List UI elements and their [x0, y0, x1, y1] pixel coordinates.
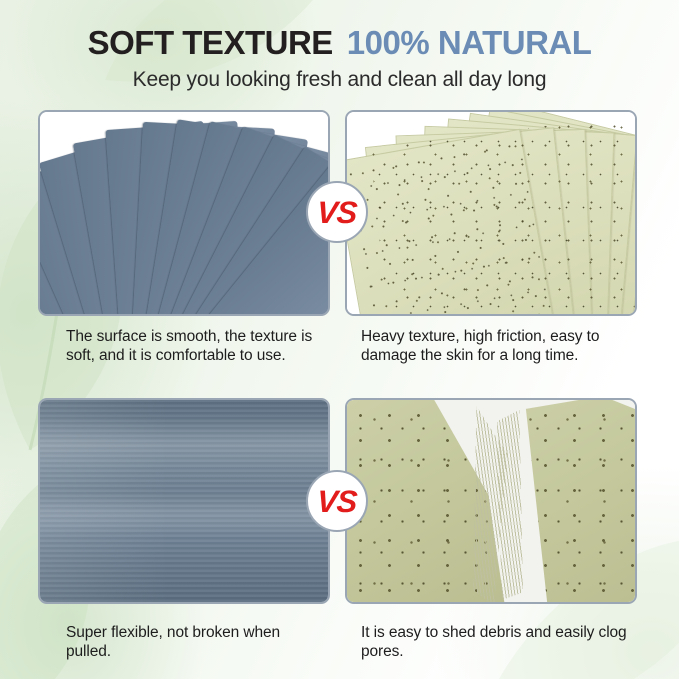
vs-badge-row1: VS [306, 181, 368, 243]
vs-label: VS [316, 197, 358, 228]
fan-of-smooth-blue-sheets-image [40, 112, 328, 314]
panel-bad-row2 [345, 398, 637, 604]
title-row: SOFT TEXTURE100% NATURAL [0, 26, 679, 59]
stack-of-speckled-green-sheets-image [347, 112, 635, 314]
page-subtitle: Keep you looking fresh and clean all day… [0, 68, 679, 92]
vs-badge-row2: VS [306, 470, 368, 532]
caption-good-row1: The surface is smooth, the texture is so… [66, 327, 328, 365]
header: SOFT TEXTURE100% NATURAL Keep you lookin… [0, 0, 679, 92]
panel-bad-row1 [345, 110, 637, 316]
panel-good-row2 [38, 398, 330, 604]
vs-label: VS [316, 486, 358, 517]
infographic-page: SOFT TEXTURE100% NATURAL Keep you lookin… [0, 0, 679, 679]
panel-good-row1 [38, 110, 330, 316]
page-title-main: SOFT TEXTURE [88, 24, 333, 61]
caption-good-row2: Super flexible, not broken when pulled. [66, 623, 328, 661]
page-title-accent: 100% NATURAL [347, 24, 592, 61]
blue-fabric-closeup-image [40, 400, 328, 602]
caption-bad-row1: Heavy texture, high friction, easy to da… [361, 327, 629, 365]
torn-green-sheet-closeup-image [347, 400, 635, 602]
caption-bad-row2: It is easy to shed debris and easily clo… [361, 623, 629, 661]
